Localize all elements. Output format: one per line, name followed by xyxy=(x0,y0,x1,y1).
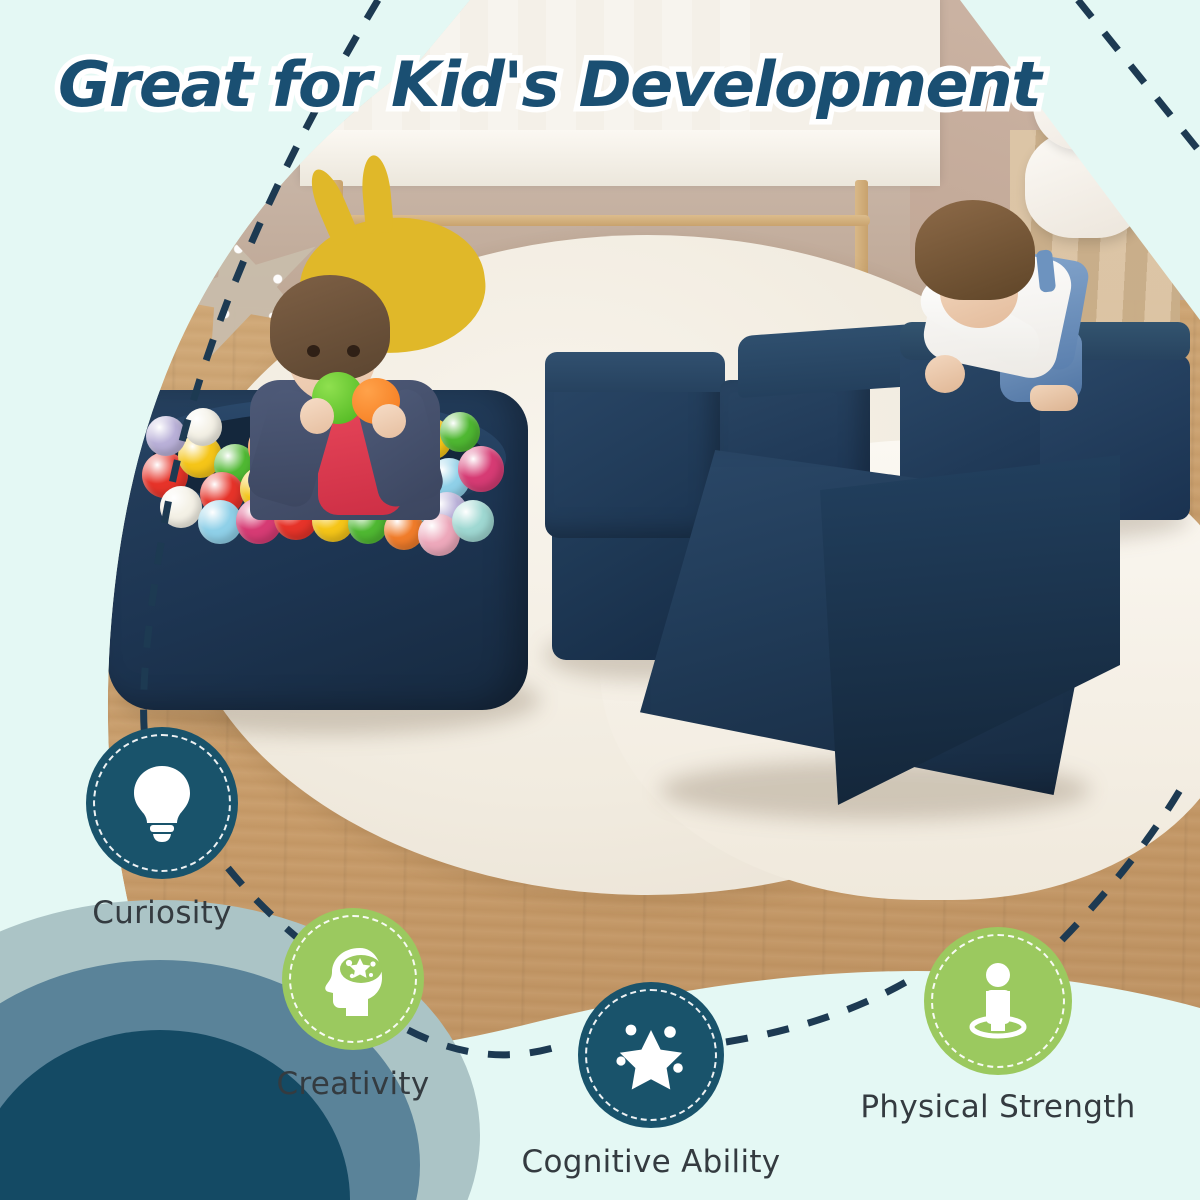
physical-strength-label: Physical Strength xyxy=(860,1089,1135,1125)
star-with-dots-icon xyxy=(610,1016,692,1094)
ball xyxy=(440,412,480,452)
creativity-label: Creativity xyxy=(276,1066,429,1102)
foam-block-tall-top xyxy=(545,352,725,392)
ball xyxy=(452,500,494,542)
head-with-stars-icon xyxy=(316,942,390,1016)
crib-rail xyxy=(300,130,940,186)
physical-strength-badge-circle[interactable] xyxy=(924,927,1072,1075)
cognitive-ability-badge-circle[interactable] xyxy=(578,982,724,1128)
infographic-canvas: Great for Kid's Development Curiosity xyxy=(0,0,1200,1200)
page-title: Great for Kid's Development xyxy=(58,48,1040,121)
feature-badge-cognitive-ability[interactable]: Cognitive Ability xyxy=(578,982,724,1128)
curiosity-label: Curiosity xyxy=(92,895,232,931)
creativity-badge-circle[interactable] xyxy=(282,908,424,1050)
curiosity-badge-circle[interactable] xyxy=(86,727,238,879)
lightbulb-icon xyxy=(126,762,198,844)
feature-badge-curiosity[interactable]: Curiosity xyxy=(86,727,238,879)
feature-badge-physical-strength[interactable]: Physical Strength xyxy=(924,927,1072,1075)
ball xyxy=(458,446,504,492)
cognitive-ability-label: Cognitive Ability xyxy=(522,1144,781,1180)
ball xyxy=(160,486,202,528)
ball xyxy=(146,416,186,456)
foam-block-mid-top xyxy=(738,324,918,399)
person-standing-icon xyxy=(962,961,1034,1041)
feature-badge-creativity[interactable]: Creativity xyxy=(282,908,424,1050)
ball xyxy=(184,408,222,446)
